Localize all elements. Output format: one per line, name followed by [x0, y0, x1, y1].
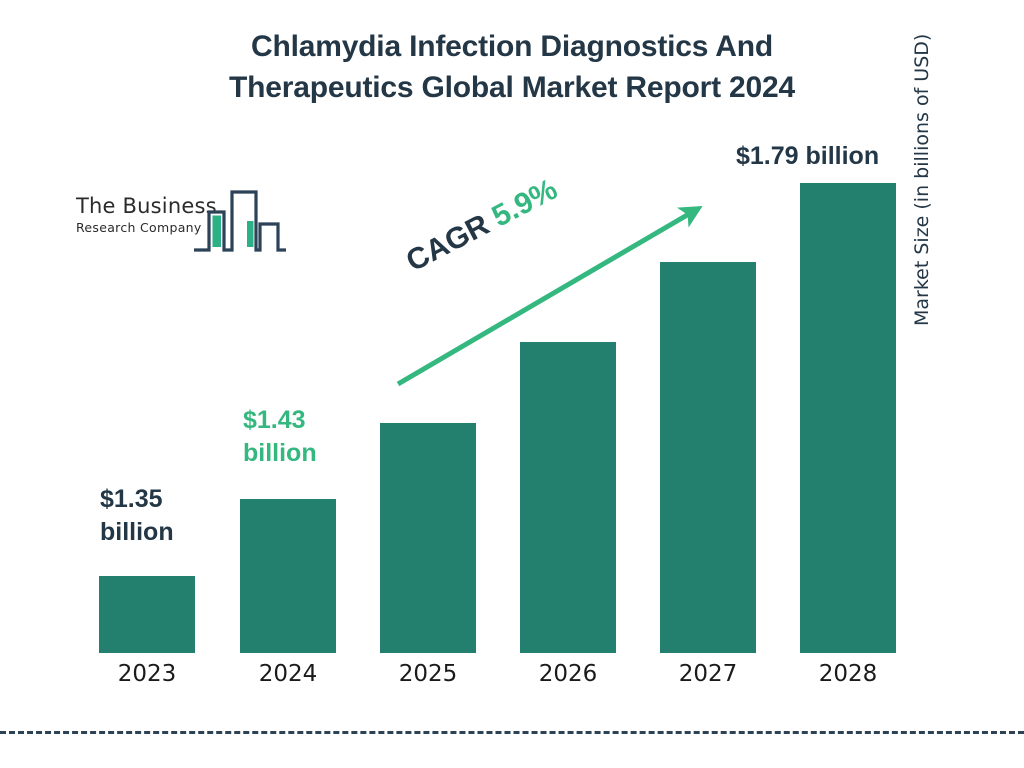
x-tick-2023: 2023 [99, 661, 195, 687]
bar-2023 [99, 576, 195, 653]
x-tick-2025: 2025 [380, 661, 476, 687]
bar-2027 [660, 262, 756, 653]
bar-2026 [520, 342, 616, 653]
plot-area: 2023 2024 2025 2026 2027 2028 [0, 0, 1024, 768]
bar-2028 [800, 183, 896, 653]
chart-canvas: Chlamydia Infection Diagnostics And Ther… [0, 0, 1024, 768]
value-label-2023: $1.35 billion [100, 483, 240, 549]
bar-2024 [240, 499, 336, 653]
footer-divider [0, 731, 1024, 734]
x-tick-2027: 2027 [660, 661, 756, 687]
x-tick-2028: 2028 [800, 661, 896, 687]
y-axis-title: Market Size (in billions of USD) [911, 0, 933, 326]
x-tick-2026: 2026 [520, 661, 616, 687]
value-label-2028: $1.79 billion [736, 140, 906, 173]
x-tick-2024: 2024 [240, 661, 336, 687]
bar-2025 [380, 423, 476, 653]
value-label-2024: $1.43 billion [243, 404, 383, 470]
